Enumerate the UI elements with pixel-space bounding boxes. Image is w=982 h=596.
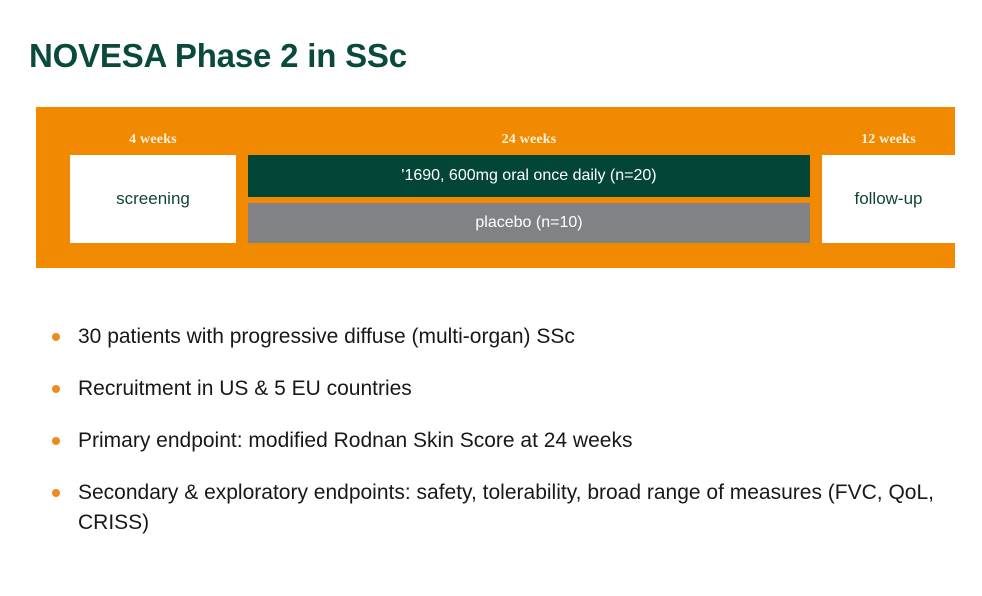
study-details-list: 30 patients with progressive diffuse (mu… — [44, 322, 944, 560]
treatment-duration-label: 24 weeks — [248, 132, 810, 148]
list-item: Primary endpoint: modified Rodnan Skin S… — [44, 426, 944, 456]
list-item: Secondary & exploratory endpoints: safet… — [44, 478, 944, 538]
screening-duration-label: 4 weeks — [70, 132, 236, 148]
followup-period-box: follow-up — [822, 155, 955, 243]
list-item: Recruitment in US & 5 EU countries — [44, 374, 944, 404]
screening-period-box: screening — [70, 155, 236, 243]
active-treatment-arm-bar: '1690, 600mg oral once daily (n=20) — [248, 155, 810, 197]
placebo-arm-bar: placebo (n=10) — [248, 203, 810, 243]
study-design-diagram: 4 weeks 24 weeks 12 weeks screening '169… — [36, 107, 955, 268]
page-title: NOVESA Phase 2 in SSc — [29, 37, 407, 75]
list-item: 30 patients with progressive diffuse (mu… — [44, 322, 944, 352]
followup-duration-label: 12 weeks — [822, 132, 955, 148]
